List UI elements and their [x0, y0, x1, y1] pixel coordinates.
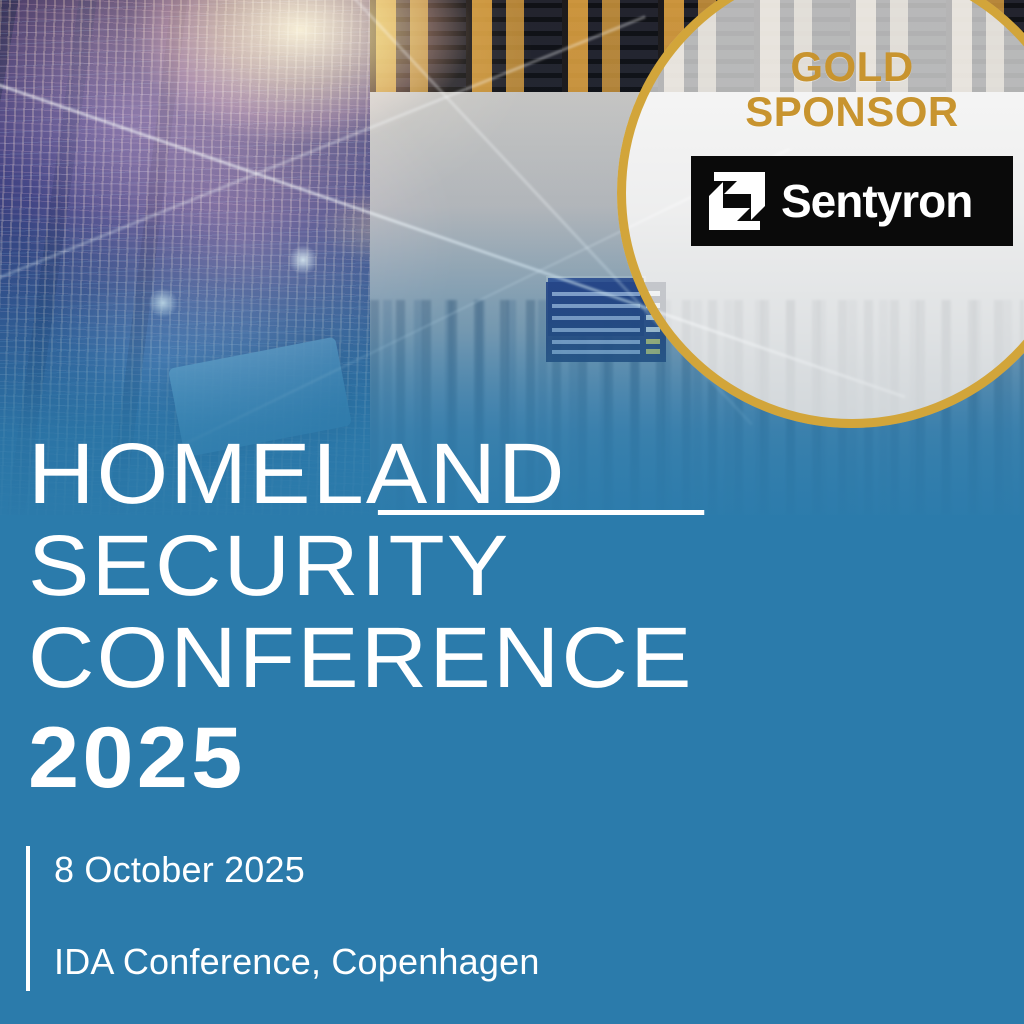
title-line-1-text: HOMELAND [28, 426, 567, 522]
event-details: 8 October 2025 IDA Conference, Copenhage… [26, 846, 726, 991]
title-underline-accent [378, 510, 704, 515]
sponsor-tier-line1: GOLD [745, 45, 959, 90]
sponsor-tier-label: GOLD SPONSOR [745, 45, 959, 134]
detail-accent-rule [26, 846, 30, 991]
gold-sponsor-content: GOLD SPONSOR Sentyron [626, 0, 1024, 419]
title-line-2: SECURITY [28, 520, 1024, 612]
title-year: 2025 [28, 710, 1024, 806]
sponsor-logo[interactable]: Sentyron [691, 156, 1013, 246]
sponsor-logo-wordmark: Sentyron [781, 178, 972, 224]
detail-text-group: 8 October 2025 IDA Conference, Copenhage… [54, 846, 540, 991]
angular-s-mark-icon [705, 172, 769, 230]
gold-sponsor-badge: GOLD SPONSOR Sentyron [617, 0, 1024, 428]
event-venue: IDA Conference, Copenhagen [54, 942, 540, 982]
event-date: 8 October 2025 [54, 850, 540, 890]
title-line-1: HOMELAND [28, 428, 1024, 520]
event-title: HOMELAND SECURITY CONFERENCE 2025 [28, 428, 1008, 806]
sponsor-tier-line2: SPONSOR [745, 90, 959, 135]
title-line-3: CONFERENCE [28, 612, 1024, 704]
conference-poster: GOLD SPONSOR Sentyron HOMELAND SECURITY … [0, 0, 1024, 1024]
